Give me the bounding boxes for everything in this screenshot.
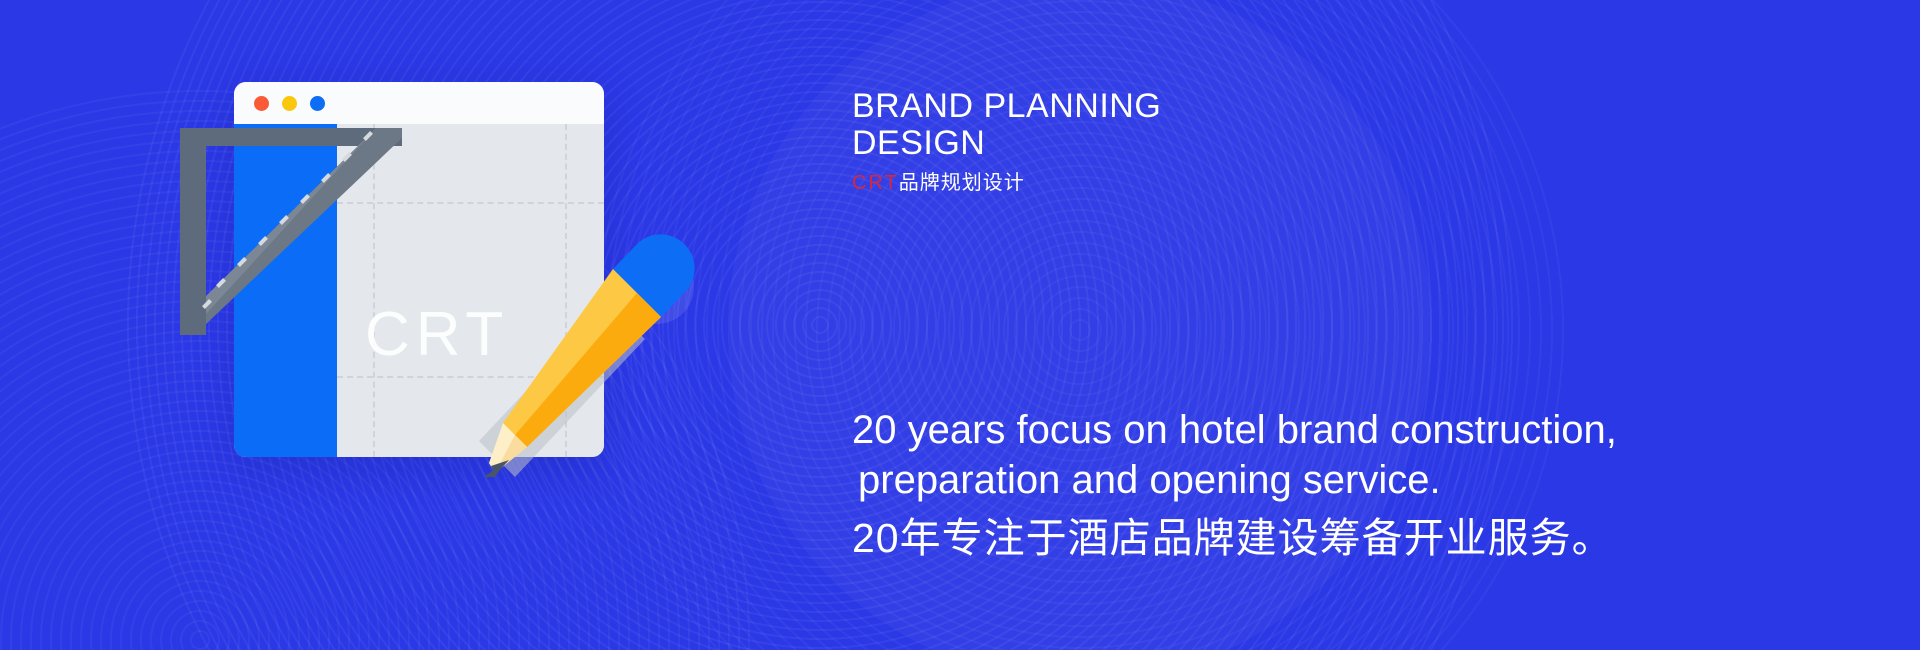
tagline-english: 20 years focus on hotel brand constructi… <box>852 405 1792 505</box>
tagline-block: 20 years focus on hotel brand constructi… <box>852 405 1792 565</box>
tagline-chinese: 20年专注于酒店品牌建设筹备开业服务。 <box>852 511 1792 565</box>
close-dot-icon[interactable] <box>254 96 269 111</box>
headline-line-1: BRAND PLANNING <box>852 88 1472 125</box>
maximize-dot-icon[interactable] <box>310 96 325 111</box>
hero-illustration: CRT <box>180 75 820 575</box>
window-control-dots <box>254 96 325 111</box>
triangle-ruler-icon <box>180 128 402 335</box>
headline-block: BRAND PLANNING DESIGN CRT品牌规划设计 <box>852 88 1472 195</box>
brand-banner: CRT <box>0 0 1920 650</box>
sub-headline: CRT品牌规划设计 <box>852 171 1472 195</box>
tagline-english-line-1: 20 years focus on hotel brand constructi… <box>852 408 1617 452</box>
brand-name-crt: CRT <box>852 172 899 194</box>
tagline-english-line-2: preparation and opening service. <box>852 455 1792 505</box>
minimize-dot-icon[interactable] <box>282 96 297 111</box>
headline-line-2: DESIGN <box>852 125 1472 162</box>
window-titlebar <box>234 82 604 124</box>
pencil-icon <box>475 225 695 485</box>
sub-headline-text: 品牌规划设计 <box>899 172 1025 194</box>
